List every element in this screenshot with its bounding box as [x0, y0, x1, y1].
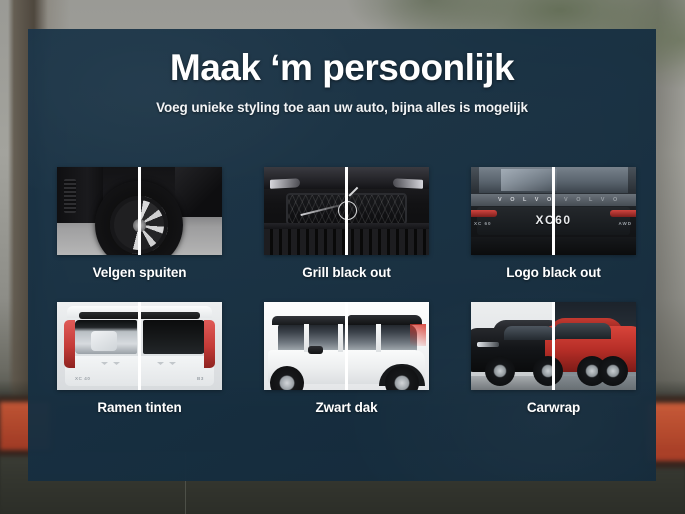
wheel-shape [598, 356, 628, 386]
option-label: Logo black out [471, 265, 636, 280]
red-accent-shape [410, 324, 426, 346]
volvo-wordmark-before: V O L V O [498, 197, 555, 203]
thumbnail-logo-black-out[interactable]: V O L V O V O L V O XC60 XC 60 AWD [471, 167, 636, 255]
before-after-divider[interactable] [138, 302, 141, 390]
option-label: Ramen tinten [57, 400, 222, 415]
thumbnail-carwrap[interactable] [471, 302, 636, 390]
page-subtitle: Voeg unieke styling toe aan uw auto, bij… [28, 100, 656, 115]
options-grid: Velgen spuiten Grill black out [57, 167, 627, 415]
taillight-right-shape [204, 320, 215, 368]
corner-badge-left: XC 40 [75, 376, 91, 381]
wheel-shape [485, 356, 515, 386]
option-card-velgen-spuiten[interactable]: Velgen spuiten [57, 167, 222, 280]
page-title: Maak ‘m persoonlijk [28, 47, 656, 88]
thumbnail-grill-black-out[interactable] [264, 167, 429, 255]
option-label: Zwart dak [264, 400, 429, 415]
option-card-ramen-tinten[interactable]: XC 40 B3 Ramen tinten [57, 302, 222, 415]
thumbnail-ramen-tinten[interactable]: XC 40 B3 [57, 302, 222, 390]
car-body-shape [175, 167, 222, 217]
before-after-divider[interactable] [552, 302, 555, 390]
wheel-shape [533, 356, 563, 386]
option-label: Carwrap [471, 400, 636, 415]
before-after-divider[interactable] [138, 167, 141, 255]
headlight-left-shape [270, 178, 300, 189]
screenshot-stage: Maak ‘m persoonlijk Voeg unieke styling … [0, 0, 685, 514]
volvo-wordmark-after: V O L V O [564, 197, 621, 203]
black-car-glass-shape [504, 326, 556, 340]
black-car-headlight-shape [477, 342, 499, 347]
rear-window-tinted [143, 320, 205, 354]
c-pillar-shape [338, 324, 343, 352]
door-mirror-shape [308, 346, 323, 354]
red-car-glass-shape [553, 323, 611, 339]
headlight-right-shape [393, 178, 423, 189]
thumbnail-velgen-spuiten[interactable] [57, 167, 222, 255]
option-card-logo-black-out[interactable]: V O L V O V O L V O XC60 XC 60 AWD Logo … [471, 167, 636, 280]
personalisation-panel: Maak ‘m persoonlijk Voeg unieke styling … [28, 29, 656, 481]
fender-vent-shape [64, 179, 76, 213]
thumbnail-zwart-dak[interactable] [264, 302, 429, 390]
option-card-carwrap[interactable]: Carwrap [471, 302, 636, 415]
corner-badge-right: B3 [197, 376, 204, 381]
option-card-grill-black-out[interactable]: Grill black out [264, 167, 429, 280]
d-pillar-shape [376, 324, 381, 352]
option-label: Velgen spuiten [57, 265, 222, 280]
before-after-divider[interactable] [345, 167, 348, 255]
option-card-zwart-dak[interactable]: Zwart dak [264, 302, 429, 415]
option-label: Grill black out [264, 265, 429, 280]
panel-header: Maak ‘m persoonlijk Voeg unieke styling … [28, 29, 656, 115]
taillight-left-shape [64, 320, 75, 368]
rear-window-untinted [75, 320, 137, 354]
before-after-divider[interactable] [345, 302, 348, 390]
before-after-divider[interactable] [552, 167, 555, 255]
